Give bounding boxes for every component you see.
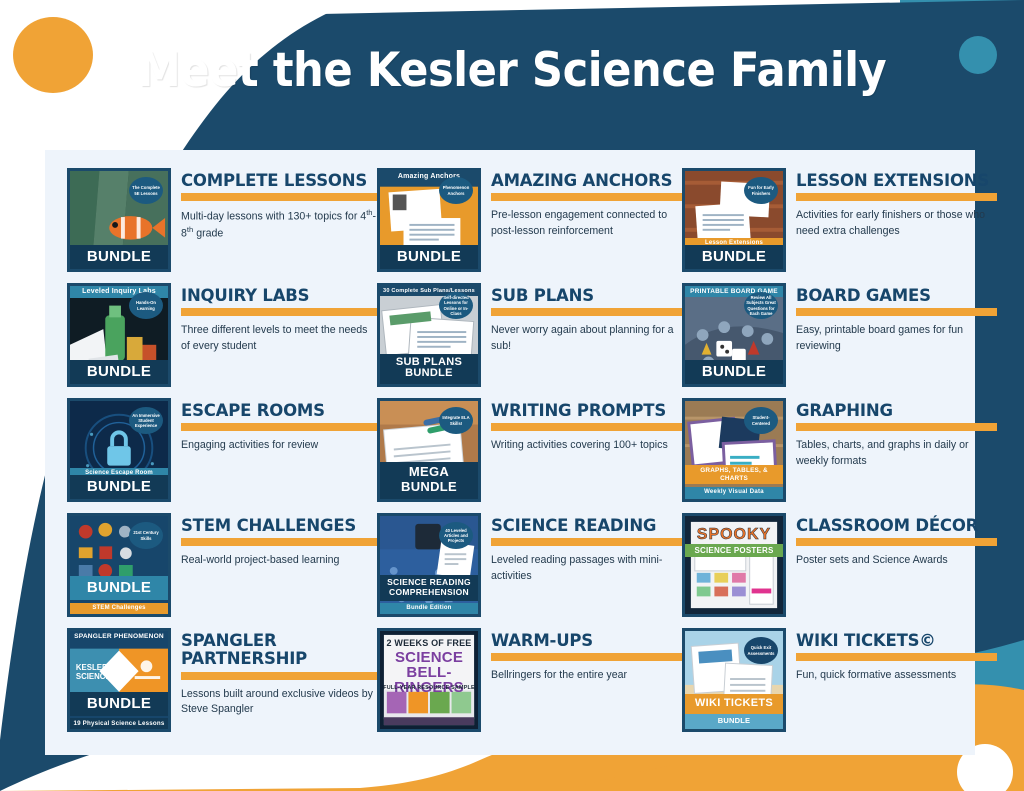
thumb-bundle-label: BUNDLE <box>70 475 168 499</box>
product-text: WIKI TICKETS© Fun, quick formative asses… <box>796 628 997 684</box>
thumb-bundle-label: BUNDLE <box>380 245 478 269</box>
thumbnail-complete-lessons: The Complete 5E Lessons BUNDLE <box>67 168 171 272</box>
svg-text:KESLER: KESLER <box>76 663 108 672</box>
orange-rule <box>796 423 997 431</box>
product-item-stem-challenges[interactable]: 21st Century Skills BUNDLE STEM Challeng… <box>67 513 377 628</box>
thumb-bundle-label: BUNDLE <box>685 245 783 269</box>
product-text: BOARD GAMES Easy, printable board games … <box>796 283 997 354</box>
thumb-badge: Quick Exit Assessments <box>744 637 778 664</box>
thumbnail-lesson-extensions: Fun for Early Finishers Lesson Extension… <box>682 168 786 272</box>
product-text: COMPLETE LESSONS Multi-day lessons with … <box>181 168 377 242</box>
thumb-badge: 21st Century Skills <box>129 522 163 549</box>
orange-rule <box>796 308 997 316</box>
thumb-badge: Fun for Early Finishers <box>744 177 778 204</box>
thumb-bundle-label: Weekly Visual Data <box>685 487 783 499</box>
product-item-warm-ups[interactable]: 2 WEEKS OF FREE SCIENCE BELL-RINGERS FUL… <box>377 628 682 743</box>
thumb-bundle-label: WIKI TICKETS <box>685 694 783 714</box>
product-desc: Writing activities covering 100+ topics <box>491 438 682 453</box>
product-desc: Engaging activities for review <box>181 438 377 453</box>
product-desc: Activities for early finishers or those … <box>796 208 997 238</box>
product-text: ESCAPE ROOMS Engaging activities for rev… <box>181 398 377 454</box>
product-item-graphing[interactable]: Student-Centered GRAPHS, TABLES, & CHART… <box>682 398 997 513</box>
product-text: AMAZING ANCHORS Pre-lesson engagement co… <box>491 168 682 239</box>
orange-rule <box>181 193 377 201</box>
product-desc: Fun, quick formative assessments <box>796 668 997 683</box>
product-item-escape-rooms[interactable]: An Immersive Student Experience Science … <box>67 398 377 513</box>
thumbnail-board-games: PRINTABLE BOARD GAME Review All Subjects… <box>682 283 786 387</box>
product-title: SCIENCE READING <box>491 517 682 535</box>
thumb-badge: Self-directed Lessons for Online or In-C… <box>439 292 473 319</box>
product-text: LESSON EXTENSIONS Activities for early f… <box>796 168 997 239</box>
thumb-caption: FULL-YEAR RESOURCE SAMPLE <box>380 683 478 693</box>
thumb-caption: 19 Physical Science Lessons <box>70 718 168 729</box>
thumb-caption: Bundle Edition <box>380 603 478 614</box>
product-title: ESCAPE ROOMS <box>181 402 377 420</box>
thumbnail-escape-rooms: An Immersive Student Experience Science … <box>67 398 171 502</box>
product-item-wiki-tickets[interactable]: Quick Exit Assessments WIKI TICKETS BUND… <box>682 628 997 743</box>
orange-rule <box>796 193 997 201</box>
orange-rule <box>181 423 377 431</box>
thumb-bundle-label: MEGA BUNDLE <box>380 462 478 499</box>
thumb-bundle-label: SUB PLANS BUNDLE <box>380 354 478 384</box>
product-title: LESSON EXTENSIONS <box>796 172 997 190</box>
product-title: STEM CHALLENGES <box>181 517 377 535</box>
product-text: WRITING PROMPTS Writing activities cover… <box>491 398 682 454</box>
product-title: WRITING PROMPTS <box>491 402 682 420</box>
thumbnail-graphing: Student-Centered GRAPHS, TABLES, & CHART… <box>682 398 786 502</box>
orange-rule <box>491 653 682 661</box>
thumb-bundle-label: BUNDLE <box>70 692 168 716</box>
product-item-spangler-partnership[interactable]: KESLERSCIENCE SPANGLER PHENOMENON BUNDLE… <box>67 628 377 743</box>
thumb-top-label: SPANGLER PHENOMENON <box>70 631 168 643</box>
product-text: INQUIRY LABS Three different levels to m… <box>181 283 377 354</box>
product-text: SCIENCE READING Leveled reading passages… <box>491 513 682 584</box>
thumb-badge: Student-Centered <box>744 407 778 434</box>
thumb-bundle-label: BUNDLE <box>685 360 783 384</box>
thumb-badge: An Immersive Student Experience <box>129 407 163 434</box>
thumb-bundle-label: BUNDLE <box>70 360 168 384</box>
thumbnail-sub-plans: 30 Complete Sub Plans/Lessons Self-direc… <box>377 283 481 387</box>
orange-rule <box>796 653 997 661</box>
product-title: CLASSROOM DÉCOR <box>796 517 997 535</box>
thumbnail-spangler-partnership: KESLERSCIENCE SPANGLER PHENOMENON BUNDLE… <box>67 628 171 732</box>
thumb-caption: GRAPHS, TABLES, & CHARTS <box>685 465 783 484</box>
product-item-inquiry-labs[interactable]: Leveled Inquiry Labs Hands-On Learning B… <box>67 283 377 398</box>
product-desc: Never worry again about planning for a s… <box>491 323 682 353</box>
orange-rule <box>491 193 682 201</box>
thumb-badge: Review All Subjects Great Questions for … <box>744 292 778 319</box>
orange-rule <box>491 538 682 546</box>
product-title: SUB PLANS <box>491 287 682 305</box>
thumb-bundle-label: SCIENCE READING COMPREHENSION <box>380 575 478 601</box>
product-item-writing-prompts[interactable]: Integrate ELA Skills! Science Writing Pr… <box>377 398 682 513</box>
poster-canvas: Meet the Kesler Science Family The Compl… <box>0 0 1024 791</box>
thumb-badge: The Complete 5E Lessons <box>129 177 163 204</box>
product-title: INQUIRY LABS <box>181 287 377 305</box>
thumb-caption: BUNDLE <box>685 714 783 729</box>
thumbnail-amazing-anchors: Amazing Anchors Phenomenon Anchors BUNDL… <box>377 168 481 272</box>
thumbnail-stem-challenges: 21st Century Skills BUNDLE STEM Challeng… <box>67 513 171 617</box>
product-desc: Easy, printable board games for fun revi… <box>796 323 997 353</box>
thumbnail-inquiry-labs: Leveled Inquiry Labs Hands-On Learning B… <box>67 283 171 387</box>
product-title: BOARD GAMES <box>796 287 997 305</box>
product-text: GRAPHING Tables, charts, and graphs in d… <box>796 398 997 469</box>
product-text: STEM CHALLENGES Real-world project-based… <box>181 513 377 569</box>
product-title: COMPLETE LESSONS <box>181 172 377 190</box>
thumb-bundle-label: BUNDLE <box>70 576 168 600</box>
orange-rule <box>181 308 377 316</box>
thumb-bundle-label: SCIENCE POSTERS <box>685 544 783 557</box>
orange-rule <box>491 423 682 431</box>
thumb-bundle-label: BUNDLE <box>70 245 168 269</box>
product-item-board-games[interactable]: PRINTABLE BOARD GAME Review All Subjects… <box>682 283 997 398</box>
product-item-complete-lessons[interactable]: The Complete 5E Lessons BUNDLE COMPLETE … <box>67 168 377 283</box>
thumb-badge: 40 Leveled Articles and Projects <box>439 522 473 549</box>
thumbnail-science-reading: 40 Leveled Articles and Projects SCIENCE… <box>377 513 481 617</box>
product-item-sub-plans[interactable]: 30 Complete Sub Plans/Lessons Self-direc… <box>377 283 682 398</box>
product-title: WARM-UPS <box>491 632 682 650</box>
product-desc: Poster sets and Science Awards <box>796 553 997 568</box>
product-desc: Multi-day lessons with 130+ topics for 4… <box>181 208 377 241</box>
product-text: SUB PLANS Never worry again about planni… <box>491 283 682 354</box>
product-item-science-reading[interactable]: 40 Leveled Articles and Projects SCIENCE… <box>377 513 682 628</box>
product-grid: The Complete 5E Lessons BUNDLE COMPLETE … <box>45 150 975 755</box>
thumb-badge: Phenomenon Anchors <box>439 177 473 204</box>
product-desc: Pre-lesson engagement connected to post-… <box>491 208 682 238</box>
product-desc: Bellringers for the entire year <box>491 668 682 683</box>
product-title: WIKI TICKETS© <box>796 632 997 650</box>
thumbnail-wiki-tickets: Quick Exit Assessments WIKI TICKETS BUND… <box>682 628 786 732</box>
thumbnail-classroom-decor: SPOOKY SCIENCE POSTERS <box>682 513 786 617</box>
product-item-classroom-decor[interactable]: SPOOKY SCIENCE POSTERS CLASSROOM DÉCOR P… <box>682 513 997 628</box>
product-item-lesson-extensions[interactable]: Fun for Early Finishers Lesson Extension… <box>682 168 997 283</box>
product-title: SPANGLER PARTNERSHIP <box>181 632 377 669</box>
page-title: Meet the Kesler Science Family <box>41 43 983 98</box>
product-desc: Leveled reading passages with mini-activ… <box>491 553 682 583</box>
orange-rule <box>491 308 682 316</box>
product-text: WARM-UPS Bellringers for the entire year <box>491 628 682 684</box>
orange-rule <box>181 672 377 680</box>
thumb-caption: STEM Challenges <box>70 603 168 614</box>
orange-rule <box>181 538 377 546</box>
product-item-amazing-anchors[interactable]: Amazing Anchors Phenomenon Anchors BUNDL… <box>377 168 682 283</box>
thumb-badge: Integrate ELA Skills! <box>439 407 473 434</box>
thumbnail-writing-prompts: Integrate ELA Skills! Science Writing Pr… <box>377 398 481 502</box>
svg-text:SCIENCE: SCIENCE <box>76 672 111 681</box>
product-desc: Lessons built around exclusive videos by… <box>181 687 377 717</box>
product-desc: Tables, charts, and graphs in daily or w… <box>796 438 997 468</box>
product-desc: Real-world project-based learning <box>181 553 377 568</box>
thumbnail-warm-ups: 2 WEEKS OF FREE SCIENCE BELL-RINGERS FUL… <box>377 628 481 732</box>
thumb-badge: Hands-On Learning <box>129 292 163 319</box>
product-text: SPANGLER PARTNERSHIP Lessons built aroun… <box>181 628 377 717</box>
product-desc: Three different levels to meet the needs… <box>181 323 377 353</box>
product-text: CLASSROOM DÉCOR Poster sets and Science … <box>796 513 997 569</box>
product-title: AMAZING ANCHORS <box>491 172 682 190</box>
product-title: GRAPHING <box>796 402 997 420</box>
orange-rule <box>796 538 997 546</box>
